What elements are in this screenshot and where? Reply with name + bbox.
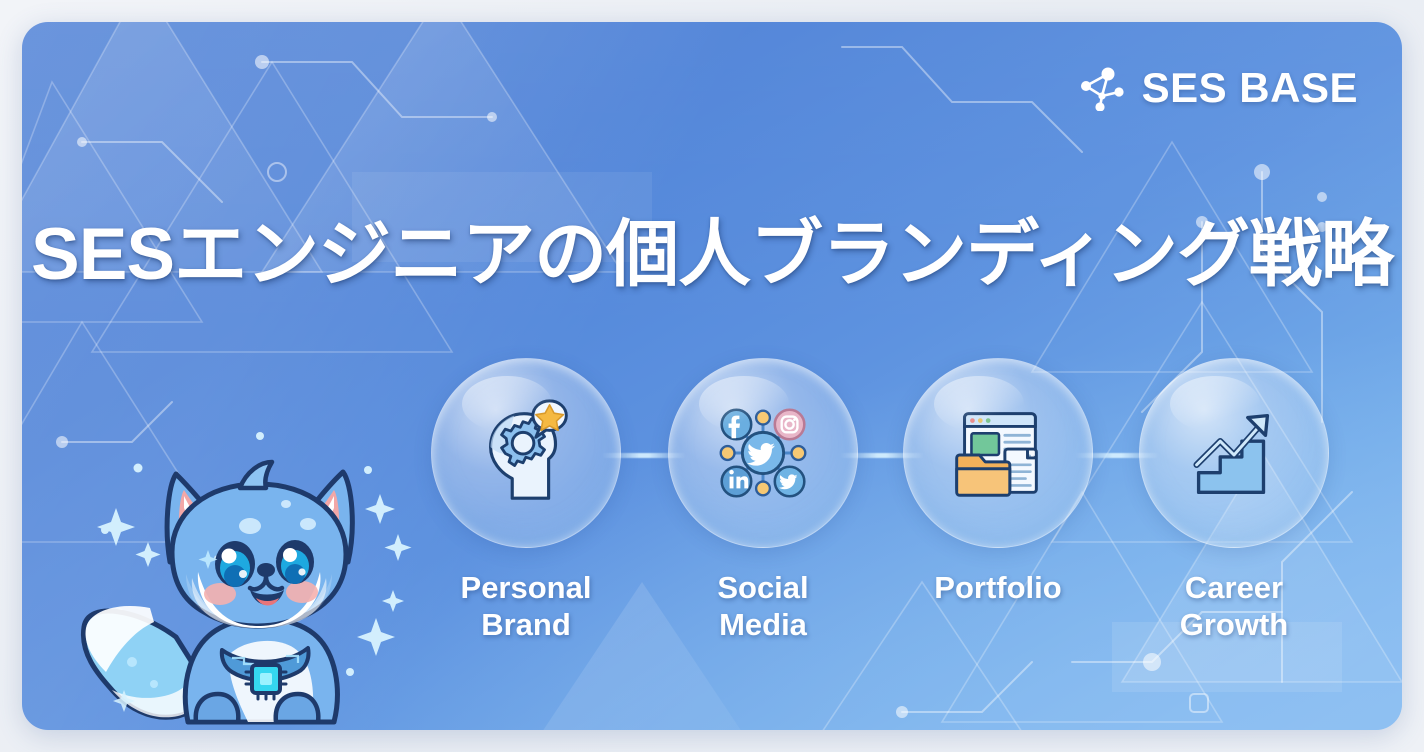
feature-label: Social Media bbox=[665, 570, 861, 643]
feature-label: Career Growth bbox=[1136, 570, 1332, 643]
head-gear-star-icon bbox=[467, 394, 585, 512]
hero-banner: SES BASE SESエンジニアの個人ブランディング戦略 bbox=[0, 0, 1424, 752]
mascot-illustration bbox=[80, 422, 430, 730]
feature-row: Personal Brand bbox=[420, 358, 1350, 658]
brand-name: SES BASE bbox=[1142, 64, 1358, 112]
feature-icon-bubble bbox=[903, 358, 1093, 548]
banner-card: SES BASE SESエンジニアの個人ブランディング戦略 bbox=[22, 22, 1402, 730]
brand-logo[interactable]: SES BASE bbox=[1076, 64, 1358, 112]
feature-icon-bubble bbox=[431, 358, 621, 548]
feature-career-growth[interactable]: Career Growth bbox=[1136, 358, 1332, 643]
feature-personal-brand[interactable]: Personal Brand bbox=[428, 358, 624, 643]
network-graph-icon bbox=[1076, 65, 1128, 111]
social-network-hub-icon bbox=[704, 394, 822, 512]
feature-label: Portfolio bbox=[900, 570, 1096, 607]
browser-folder-document-icon bbox=[939, 394, 1057, 512]
feature-social-media[interactable]: Social Media bbox=[665, 358, 861, 643]
feature-icon-bubble bbox=[1139, 358, 1329, 548]
growth-arrow-stairs-icon bbox=[1175, 394, 1293, 512]
feature-portfolio[interactable]: Portfolio bbox=[900, 358, 1096, 607]
blue-fox-mascot bbox=[80, 422, 430, 730]
page-title: SESエンジニアの個人ブランディング戦略 bbox=[22, 218, 1402, 291]
feature-label: Personal Brand bbox=[428, 570, 624, 643]
feature-icon-bubble bbox=[668, 358, 858, 548]
